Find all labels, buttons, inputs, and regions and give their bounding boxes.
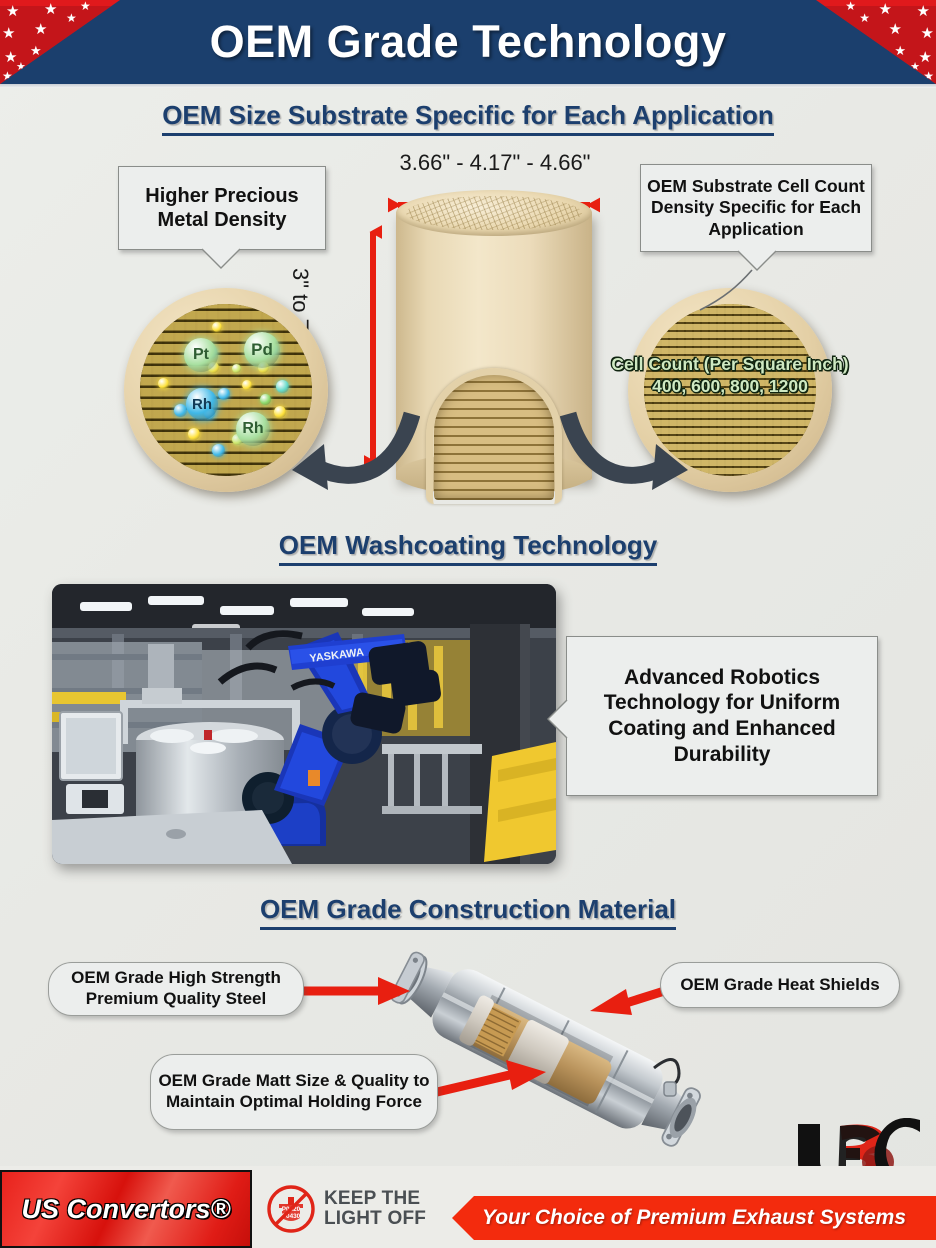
metal-particle [174,404,187,417]
callout-oem-substrate-cell-count-text: OEM Substrate Cell Count Density Specifi… [641,176,871,240]
keep-light-line-1: KEEP THE [324,1189,426,1209]
arrow-steel-icon [300,975,412,1007]
tagline-banner: Your Choice of Premium Exhaust Systems [452,1196,936,1240]
callout-heat-shields: OEM Grade Heat Shields [660,962,900,1008]
cell-count-title: Cell Count (Per Square Inch) [600,354,860,376]
metal-particle [212,322,222,332]
page-title: OEM Grade Technology [0,0,936,84]
metal-particle [218,388,230,400]
callout-matt-size: OEM Grade Matt Size & Quality to Maintai… [150,1054,438,1130]
infographic-page: ★ ★ ★ ★ ★ ★ ★ ★ ★ ★ ★ ★ ★ ★ ★ ★ ★ ★ ★ ★ … [0,0,936,1248]
keep-light-line-2: LIGHT OFF [324,1209,426,1229]
metal-particle [276,380,289,393]
curved-arrow-right-icon [560,400,696,496]
metal-particle [158,378,169,389]
callout-leader-line [690,268,760,314]
cylinder-cutaway-lip [426,368,562,504]
section-2-title: OEM Washcoating Technology [0,530,936,561]
metal-bubble-pt: Pt [184,338,218,372]
us-convertors-banner: US Convertors® [0,1170,252,1248]
cell-count-values: 400, 600, 800, 1200 [600,376,860,398]
callout-tail-robotics [546,698,568,740]
metal-particle [242,380,252,390]
callout-advanced-robotics: Advanced Robotics Technology for Uniform… [566,636,878,796]
tagline-text: Your Choice of Premium Exhaust Systems [482,1206,906,1230]
header-divider [0,84,936,88]
keep-the-light-off-text: KEEP THE LIGHT OFF [324,1189,426,1229]
metal-bubble-pd: Pd [244,332,280,368]
callout-oem-substrate-cell-count: OEM Substrate Cell Count Density Specifi… [640,164,872,252]
cylinder-top-face [396,190,592,236]
section-1-title: OEM Size Substrate Specific for Each App… [0,100,936,131]
section-2-title-text: OEM Washcoating Technology [279,530,657,566]
callout-advanced-robotics-text: Advanced Robotics Technology for Uniform… [567,665,877,767]
section-3-title: OEM Grade Construction Material [0,894,936,925]
curved-arrow-left-icon [284,400,420,496]
cell-count-overlay: Cell Count (Per Square Inch) 400, 600, 8… [600,354,860,398]
section-3-title-text: OEM Grade Construction Material [260,894,676,930]
no-check-engine-light-icon: P0420 P0430 [266,1184,316,1234]
metal-particle [260,394,271,405]
washcoating-robot-photo: YASKAWA [52,584,556,864]
callout-matt-size-text: OEM Grade Matt Size & Quality to Maintai… [151,1071,437,1112]
callout-higher-precious-metal-density: Higher Precious Metal Density [118,166,326,250]
callout-tail-left-outline [200,248,242,270]
metal-bubble-rh: Rh [186,388,218,420]
cylinder-top-mesh [406,196,582,230]
callout-premium-steel: OEM Grade High Strength Premium Quality … [48,962,304,1016]
section-1-title-text: OEM Size Substrate Specific for Each App… [162,100,774,136]
callout-premium-steel-text: OEM Grade High Strength Premium Quality … [49,968,303,1009]
callout-higher-precious-metal-density-text: Higher Precious Metal Density [119,184,325,233]
metal-particle [212,444,225,457]
metal-particle [188,428,200,440]
diameter-label: 3.66" - 4.17" - 4.66" [360,150,630,176]
metal-bubble-rh: Rh [236,412,270,446]
metal-particle [232,364,241,373]
keep-the-light-off-badge: P0420 P0430 KEEP THE LIGHT OFF [266,1182,446,1236]
callout-heat-shields-text: OEM Grade Heat Shields [680,975,879,996]
page-header: ★ ★ ★ ★ ★ ★ ★ ★ ★ ★ ★ ★ ★ ★ ★ ★ ★ ★ ★ ★ … [0,0,936,84]
us-convertors-brand-text: US Convertors® [22,1194,231,1225]
